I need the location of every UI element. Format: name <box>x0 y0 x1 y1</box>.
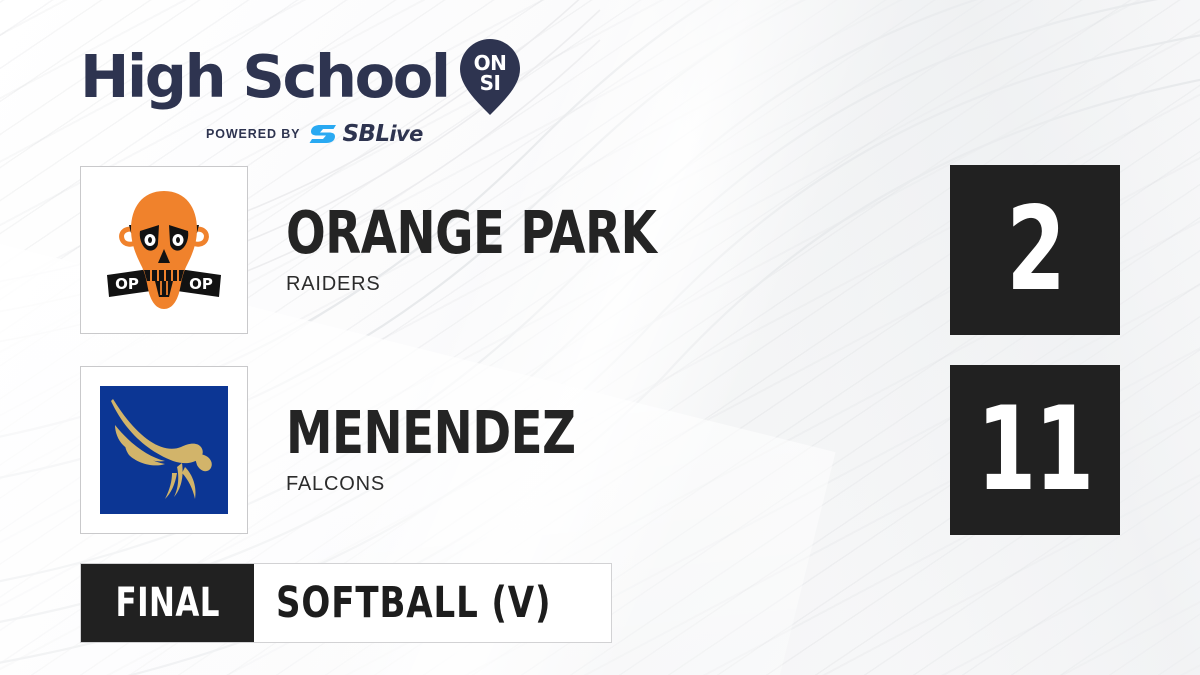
brand-wordmark-row: High School ON SI <box>80 36 550 116</box>
team-mascot: FALCONS <box>286 473 950 496</box>
team-score: 2 <box>1006 192 1064 308</box>
team-row: OP OP <box>80 165 1120 335</box>
menendez-falcons-falcon-icon <box>89 375 239 525</box>
sblive-wordmark: SBLive <box>342 123 422 146</box>
scoreboard-graphic: High School ON SI POWERED BY SBLive <box>0 0 1200 675</box>
team-score: 11 <box>977 392 1093 508</box>
team-info: MENENDEZ FALCONS <box>286 404 950 497</box>
sblive-word-upper: SBL <box>342 121 389 147</box>
on-si-pin-icon: ON SI <box>459 38 521 116</box>
sport-label-container: SOFTBALL (V) <box>254 564 611 642</box>
brand-header: High School ON SI POWERED BY SBLive <box>80 36 550 132</box>
team-mascot: RAIDERS <box>286 273 950 296</box>
team-info: ORANGE PARK RAIDERS <box>286 204 950 297</box>
brand-wordmark: High School <box>80 47 449 106</box>
status-badge: FINAL <box>81 564 254 642</box>
team-name: ORANGE PARK <box>286 204 870 262</box>
orange-park-raiders-skull-icon: OP OP <box>89 175 239 325</box>
team-score-box: 2 <box>950 165 1120 335</box>
sblive-s-mark-icon <box>309 122 339 146</box>
banner-monogram-right: OP <box>189 275 213 293</box>
sblive-logo: SBLive <box>309 122 422 146</box>
powered-by-label: POWERED BY <box>206 127 300 141</box>
pin-label-si: SI <box>479 71 500 95</box>
sblive-word-lower: ive <box>389 122 422 146</box>
team-logo-menendez <box>80 366 248 534</box>
team-score-box: 11 <box>950 365 1120 535</box>
team-row: MENENDEZ FALCONS 11 <box>80 365 1120 535</box>
team-logo-orange-park: OP OP <box>80 166 248 334</box>
banner-monogram-left: OP <box>115 275 139 293</box>
status-badge-label: FINAL <box>115 580 219 626</box>
game-status-bar: FINAL SOFTBALL (V) <box>80 563 612 643</box>
sport-label: SOFTBALL (V) <box>276 578 551 628</box>
team-name: MENENDEZ <box>286 404 870 462</box>
powered-by-row: POWERED BY SBLive <box>206 122 550 146</box>
